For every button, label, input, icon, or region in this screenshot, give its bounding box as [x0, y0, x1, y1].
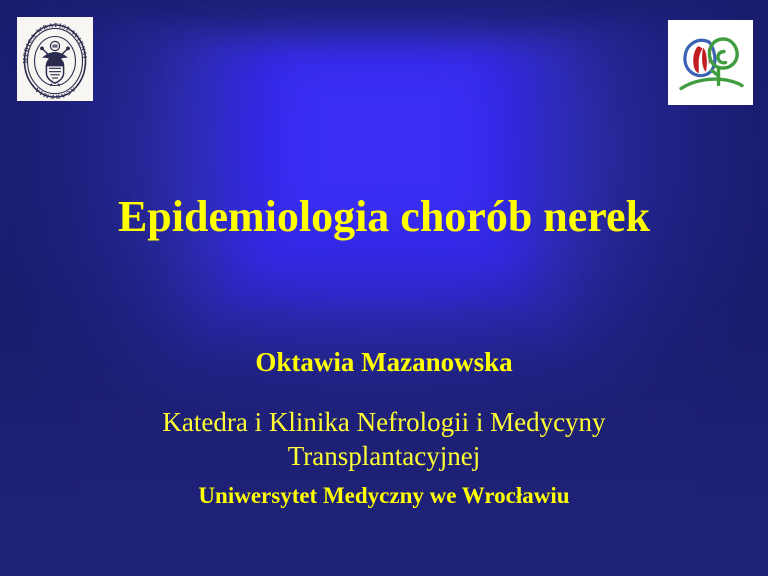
affiliation-text: Katedra i Klinika Nefrologii i Medycyny …	[64, 405, 704, 473]
academia-medica-wratislaviensis-seal-icon: MEDICA WRATISLAVIENSIS • ACADEMIA •	[19, 19, 91, 99]
university-name: Uniwersytet Medyczny we Wrocławiu	[0, 482, 768, 510]
presentation-slide: MEDICA WRATISLAVIENSIS • ACADEMIA •	[0, 0, 768, 576]
presenter-name: Oktawia Mazanowska	[0, 345, 768, 379]
university-seal-logo: MEDICA WRATISLAVIENSIS • ACADEMIA •	[17, 17, 93, 101]
background-ring-6	[224, 52, 536, 308]
nephrology-transplantation-logo	[668, 20, 753, 105]
slide-title: Epidemiologia chorób nerek	[0, 192, 768, 242]
tree-and-kidney-icon	[668, 20, 753, 105]
